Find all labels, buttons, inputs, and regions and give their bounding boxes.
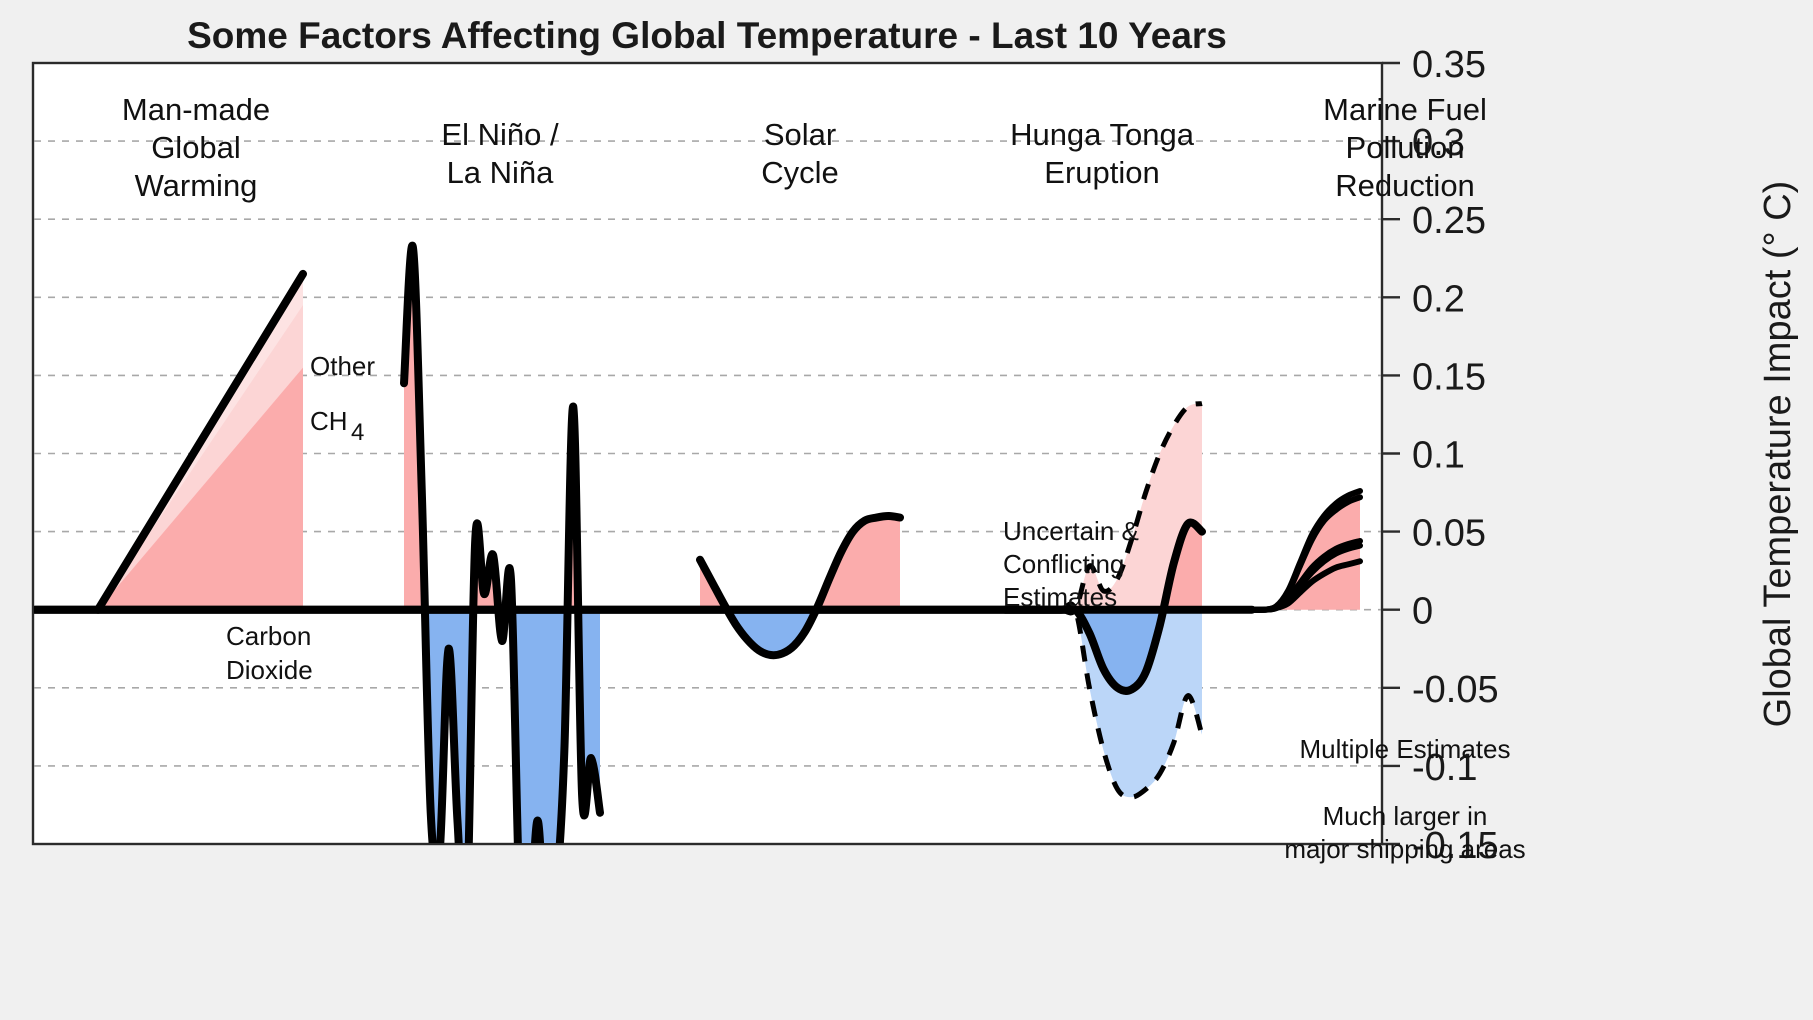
annotation-line: Carbon	[226, 621, 311, 651]
global-temperature-factors-chart: 0.350.30.250.20.150.10.050-0.05-0.1-0.15…	[0, 0, 1813, 1020]
panel-label-line: Solar	[764, 117, 836, 152]
panel-label-marine-fuel-pollution-reduction: Marine Fuel Pollution Reduction	[1323, 92, 1487, 203]
annotation-line: Dioxide	[226, 655, 313, 685]
annotation-line: Estimates	[1003, 582, 1117, 612]
panel-label-line: Global	[151, 130, 241, 165]
y-tick-label: 0.1	[1412, 435, 1465, 477]
y-tick-label: 0.15	[1412, 356, 1486, 398]
panel-label-line: La Niña	[447, 155, 555, 190]
annotation-ch4-base: CH	[310, 406, 348, 436]
panel-label-line: El Niño /	[441, 117, 559, 152]
panel-label-line: Reduction	[1335, 168, 1475, 203]
y-tick-label: 0	[1412, 591, 1433, 633]
annotation-ch4-subscript: 4	[351, 419, 364, 446]
panel-label-line: Cycle	[761, 155, 839, 190]
y-axis-label: Global Temperature Impact (° C)	[1757, 181, 1799, 728]
panel-label-line: Eruption	[1044, 155, 1159, 190]
y-tick-label: 0.35	[1412, 44, 1486, 86]
annotation-line: major shipping areas	[1284, 834, 1525, 864]
annotation-line: Conflicting	[1003, 549, 1124, 579]
panel-label-line: Warming	[135, 168, 258, 203]
y-tick-label: 0.25	[1412, 200, 1486, 242]
y-tick-label: 0.2	[1412, 278, 1465, 320]
chart-title: Some Factors Affecting Global Temperatur…	[187, 15, 1227, 56]
panel-label-line: Hunga Tonga	[1010, 117, 1195, 152]
y-tick-label: 0.05	[1412, 513, 1486, 555]
y-tick-label: -0.05	[1412, 669, 1499, 711]
annotation-line: Uncertain &	[1003, 516, 1139, 546]
panel-label-line: Man-made	[122, 92, 270, 127]
annotation-multiple-estimates: Multiple Estimates	[1300, 734, 1511, 764]
chart-root: 0.350.30.250.20.150.10.050-0.05-0.1-0.15…	[0, 0, 1813, 1020]
annotation-other: Other	[310, 351, 375, 381]
panel-label-line: Marine Fuel	[1323, 92, 1487, 127]
annotation-line: Much larger in	[1323, 801, 1488, 831]
panel-label-line: Pollution	[1346, 130, 1465, 165]
